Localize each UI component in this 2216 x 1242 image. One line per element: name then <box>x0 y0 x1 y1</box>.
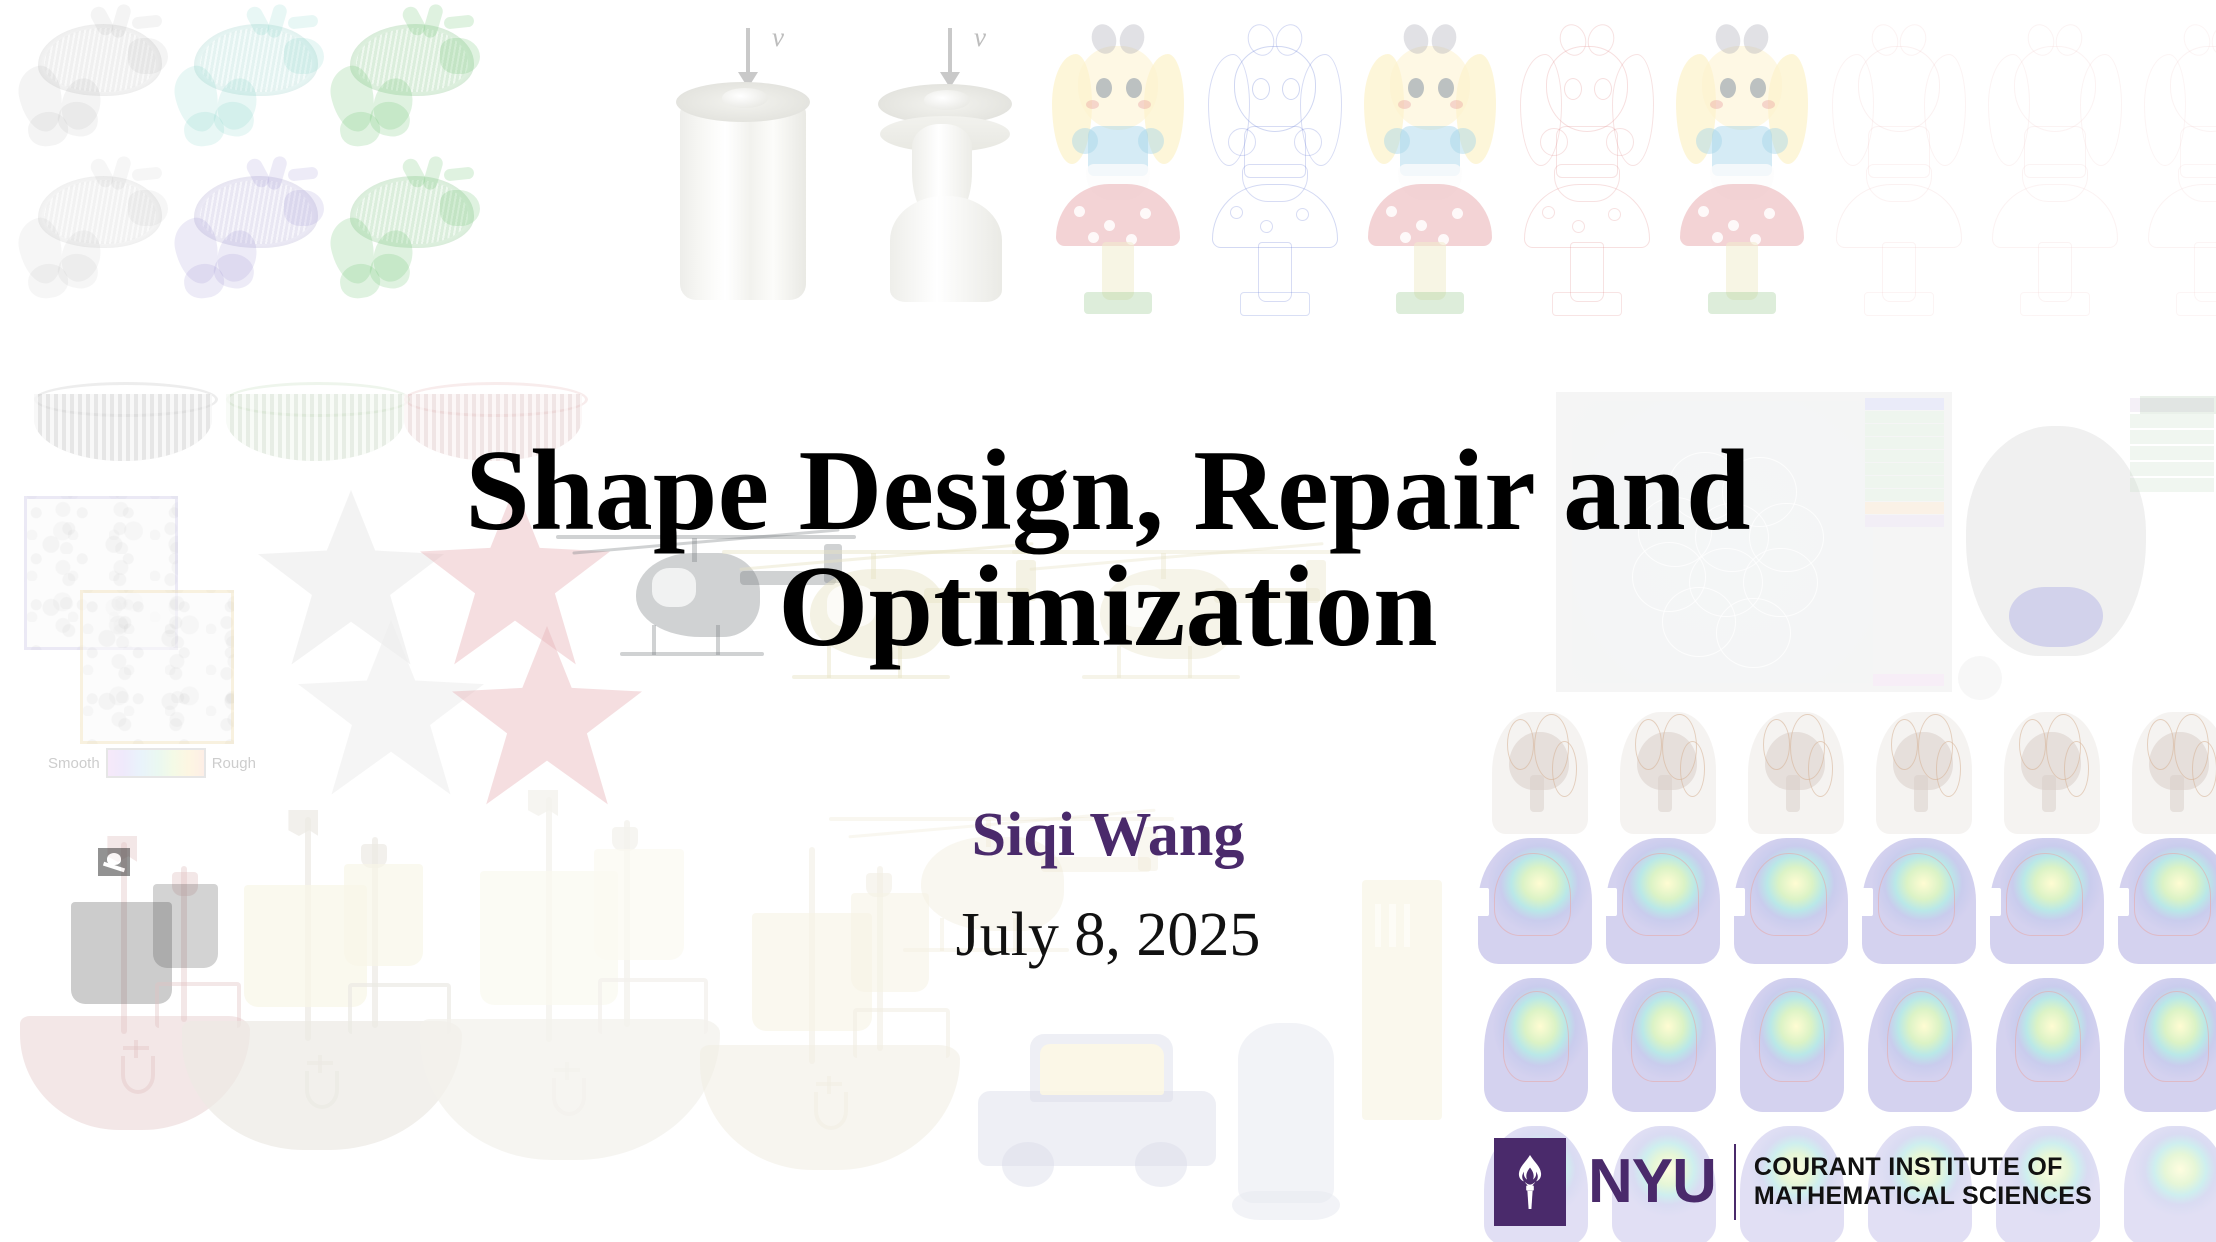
presentation-date: July 8, 2025 <box>0 900 2216 971</box>
courant-line-1: COURANT INSTITUTE OF <box>1754 1153 2092 1182</box>
page-title: Shape Design, Repair and Optimization <box>0 433 2216 665</box>
logo-divider <box>1734 1144 1736 1220</box>
author-name: Siqi Wang <box>0 800 2216 871</box>
nyu-wordmark: NYU <box>1588 1151 1716 1213</box>
courant-line-2: MATHEMATICAL SCIENCES <box>1754 1182 2092 1211</box>
torch-icon <box>1494 1138 1566 1226</box>
title-slide: v v <box>0 0 2216 1242</box>
slide-content: Shape Design, Repair and Optimization Si… <box>0 0 2216 1242</box>
courant-institute-label: COURANT INSTITUTE OF MATHEMATICAL SCIENC… <box>1754 1153 2092 1211</box>
nyu-courant-logo: NYU COURANT INSTITUTE OF MATHEMATICAL SC… <box>1494 1138 2092 1226</box>
